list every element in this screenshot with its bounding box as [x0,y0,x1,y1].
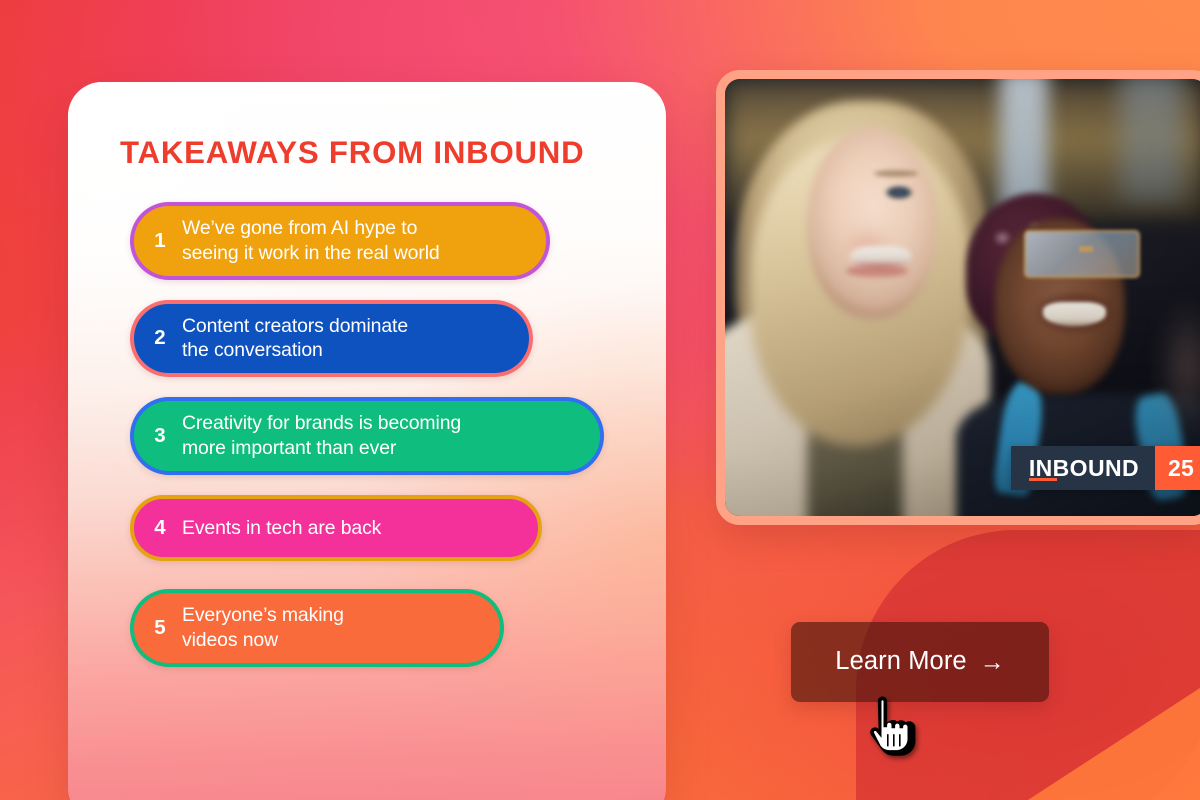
slide-canvas: TAKEAWAYS FROM INBOUND 1We’ve gone from … [0,0,1200,800]
event-photo-frame: INBOUND 25 [716,70,1200,525]
takeaway-number: 2 [134,328,182,349]
takeaway-number: 4 [134,518,182,539]
arrow-right-icon: → [980,650,1005,675]
event-photo: INBOUND 25 [725,79,1200,516]
inbound-logo-text: INBOUND [1029,457,1139,480]
takeaways-list: 1We’ve gone from AI hype to seeing it wo… [130,202,630,667]
inbound-logo-year-text: 25 [1168,457,1194,480]
inbound-logo-year-box: 25 [1155,446,1200,490]
inbound-logo-badge: INBOUND 25 [1011,446,1200,490]
photo-background-pillar-secondary [1120,79,1183,201]
takeaway-pill-4[interactable]: 4Events in tech are back [130,495,542,561]
takeaway-pill-1[interactable]: 1We’ve gone from AI hype to seeing it wo… [130,202,550,280]
takeaway-text: Content creators dominate the conversati… [182,314,529,364]
takeaway-pill-2[interactable]: 2Content creators dominate the conversat… [130,300,533,378]
takeaway-text: Everyone’s making videos now [182,603,500,653]
takeaway-number: 5 [134,618,182,639]
inbound-logo-wordmark: INBOUND [1011,446,1155,490]
takeaway-number: 3 [134,426,182,447]
photo-person-one-lip [846,265,909,276]
inbound-logo-underline-accent [1029,478,1057,481]
takeaway-pill-3[interactable]: 3Creativity for brands is becoming more … [130,397,604,475]
takeaway-text: We’ve gone from AI hype to seeing it wor… [182,216,546,266]
takeaway-text: Events in tech are back [182,516,538,541]
page-title: TAKEAWAYS FROM INBOUND [120,134,584,171]
takeaway-text: Creativity for brands is becoming more i… [182,411,600,461]
photo-person-one-brow [874,170,917,177]
photo-person-two-glasses [1024,230,1140,278]
learn-more-label: Learn More [835,649,966,675]
takeaway-pill-5[interactable]: 5Everyone’s making videos now [130,589,504,667]
photo-person-two-glasses-bridge [1079,246,1093,252]
learn-more-button[interactable]: Learn More → [791,622,1049,702]
takeaways-card: TAKEAWAYS FROM INBOUND 1We’ve gone from … [68,82,666,800]
takeaway-number: 1 [134,231,182,252]
